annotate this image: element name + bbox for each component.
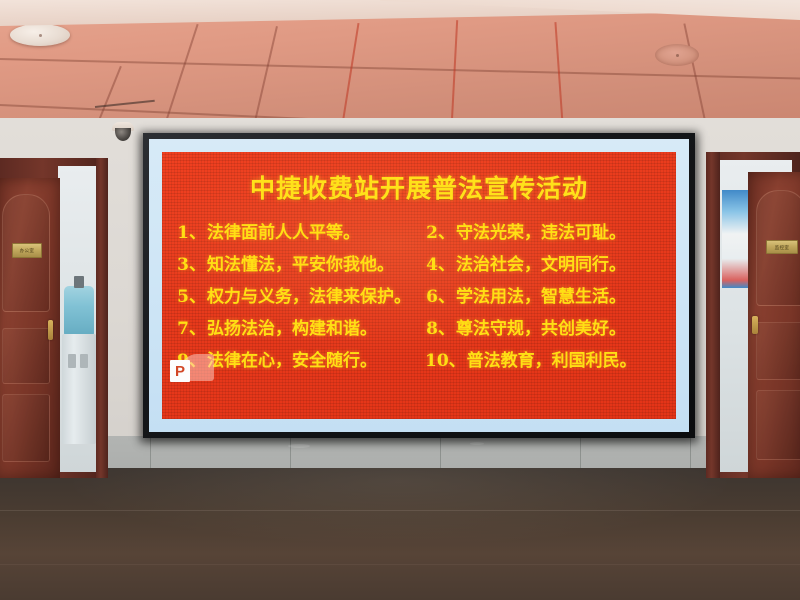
led-slogan-item: 4、 法治社会，文明同行。 bbox=[425, 246, 668, 278]
led-slogan-item: 3、 知法懂法，平安你我他。 bbox=[176, 246, 419, 278]
led-slogan-item: 6、 学法用法，智慧生活。 bbox=[425, 278, 668, 310]
led-slogan-item: 2、 守法光荣，违法可耻。 bbox=[425, 214, 668, 246]
powerpoint-logo-letter: P bbox=[175, 364, 185, 379]
led-slogan-number: 5、 bbox=[176, 282, 206, 307]
led-slogan-text: 法律面前人人平等。 bbox=[207, 218, 360, 243]
room-photo-scene: 办公室 监控室 中捷收费站开展普法宣传活动 1、 法律面前人人 bbox=[0, 0, 800, 600]
ceiling-speaker-right bbox=[655, 44, 699, 66]
led-slogan-column-left: 1、 法律面前人人平等。 3、 知法懂法，平安你我他。 5、 权力与义务，法律来… bbox=[170, 214, 419, 374]
led-slogan-text: 学法用法，智慧生活。 bbox=[456, 282, 626, 307]
right-door-handle[interactable] bbox=[752, 316, 758, 334]
led-slogan-number: 7、 bbox=[176, 314, 206, 339]
led-slogan-number: 2、 bbox=[425, 218, 455, 243]
right-door-nameplate: 监控室 bbox=[766, 240, 798, 254]
left-door-nameplate: 办公室 bbox=[12, 243, 42, 258]
left-door-jamb bbox=[96, 158, 108, 478]
powerpoint-logo-icon: P bbox=[170, 354, 214, 388]
led-slogan-text: 法治社会，文明同行。 bbox=[456, 250, 626, 275]
led-slogan-item: 5、 权力与义务，法律来保护。 bbox=[176, 278, 419, 310]
led-slogan-columns: 1、 法律面前人人平等。 3、 知法懂法，平安你我他。 5、 权力与义务，法律来… bbox=[170, 214, 668, 374]
led-slogan-item: 8、 尊法守规，共创美好。 bbox=[425, 310, 668, 342]
led-slogan-text: 守法光荣，违法可耻。 bbox=[456, 218, 626, 243]
led-slogan-number: 1、 bbox=[176, 218, 206, 243]
led-slogan-text: 权力与义务，法律来保护。 bbox=[207, 282, 411, 307]
water-dispenser bbox=[62, 334, 96, 444]
led-display-panel[interactable]: 中捷收费站开展普法宣传活动 1、 法律面前人人平等。 3、 知法懂法，平安你我他… bbox=[162, 152, 676, 419]
led-slogan-text: 弘扬法治，构建和谐。 bbox=[207, 314, 377, 339]
led-slogan-number: 8、 bbox=[425, 314, 455, 339]
floor-reflection bbox=[0, 468, 800, 600]
ceiling-speaker-left bbox=[10, 24, 70, 46]
led-slogan-number: 10、 bbox=[425, 346, 466, 371]
led-slogan-text: 尊法守规，共创美好。 bbox=[456, 314, 626, 339]
left-door-handle[interactable] bbox=[48, 320, 53, 340]
led-slogan-column-right: 2、 守法光荣，违法可耻。 4、 法治社会，文明同行。 6、 学法用法，智慧生活… bbox=[419, 214, 668, 374]
left-door-nameplate-text: 办公室 bbox=[20, 247, 35, 253]
right-door-jamb bbox=[706, 152, 720, 478]
dome-camera-icon bbox=[112, 122, 134, 142]
led-slogan-text: 普法教育，利国利民。 bbox=[467, 346, 637, 371]
right-door[interactable]: 监控室 bbox=[748, 172, 800, 478]
led-slogan-item: 7、 弘扬法治，构建和谐。 bbox=[176, 310, 419, 342]
water-bottle bbox=[64, 286, 94, 336]
led-headline: 中捷收费站开展普法宣传活动 bbox=[162, 176, 676, 201]
led-slogan-text: 知法懂法，平安你我他。 bbox=[207, 250, 394, 275]
led-slogan-item: 1、 法律面前人人平等。 bbox=[176, 214, 419, 246]
right-door-nameplate-text: 监控室 bbox=[775, 244, 790, 250]
led-slogan-item: 10、 普法教育，利国利民。 bbox=[425, 342, 668, 374]
led-slogan-number: 4、 bbox=[425, 250, 455, 275]
led-slogan-number: 3、 bbox=[176, 250, 206, 275]
left-door[interactable]: 办公室 bbox=[0, 178, 60, 478]
led-slogan-number: 6、 bbox=[425, 282, 455, 307]
led-slogan-text: 法律在心，安全随行。 bbox=[207, 346, 377, 371]
